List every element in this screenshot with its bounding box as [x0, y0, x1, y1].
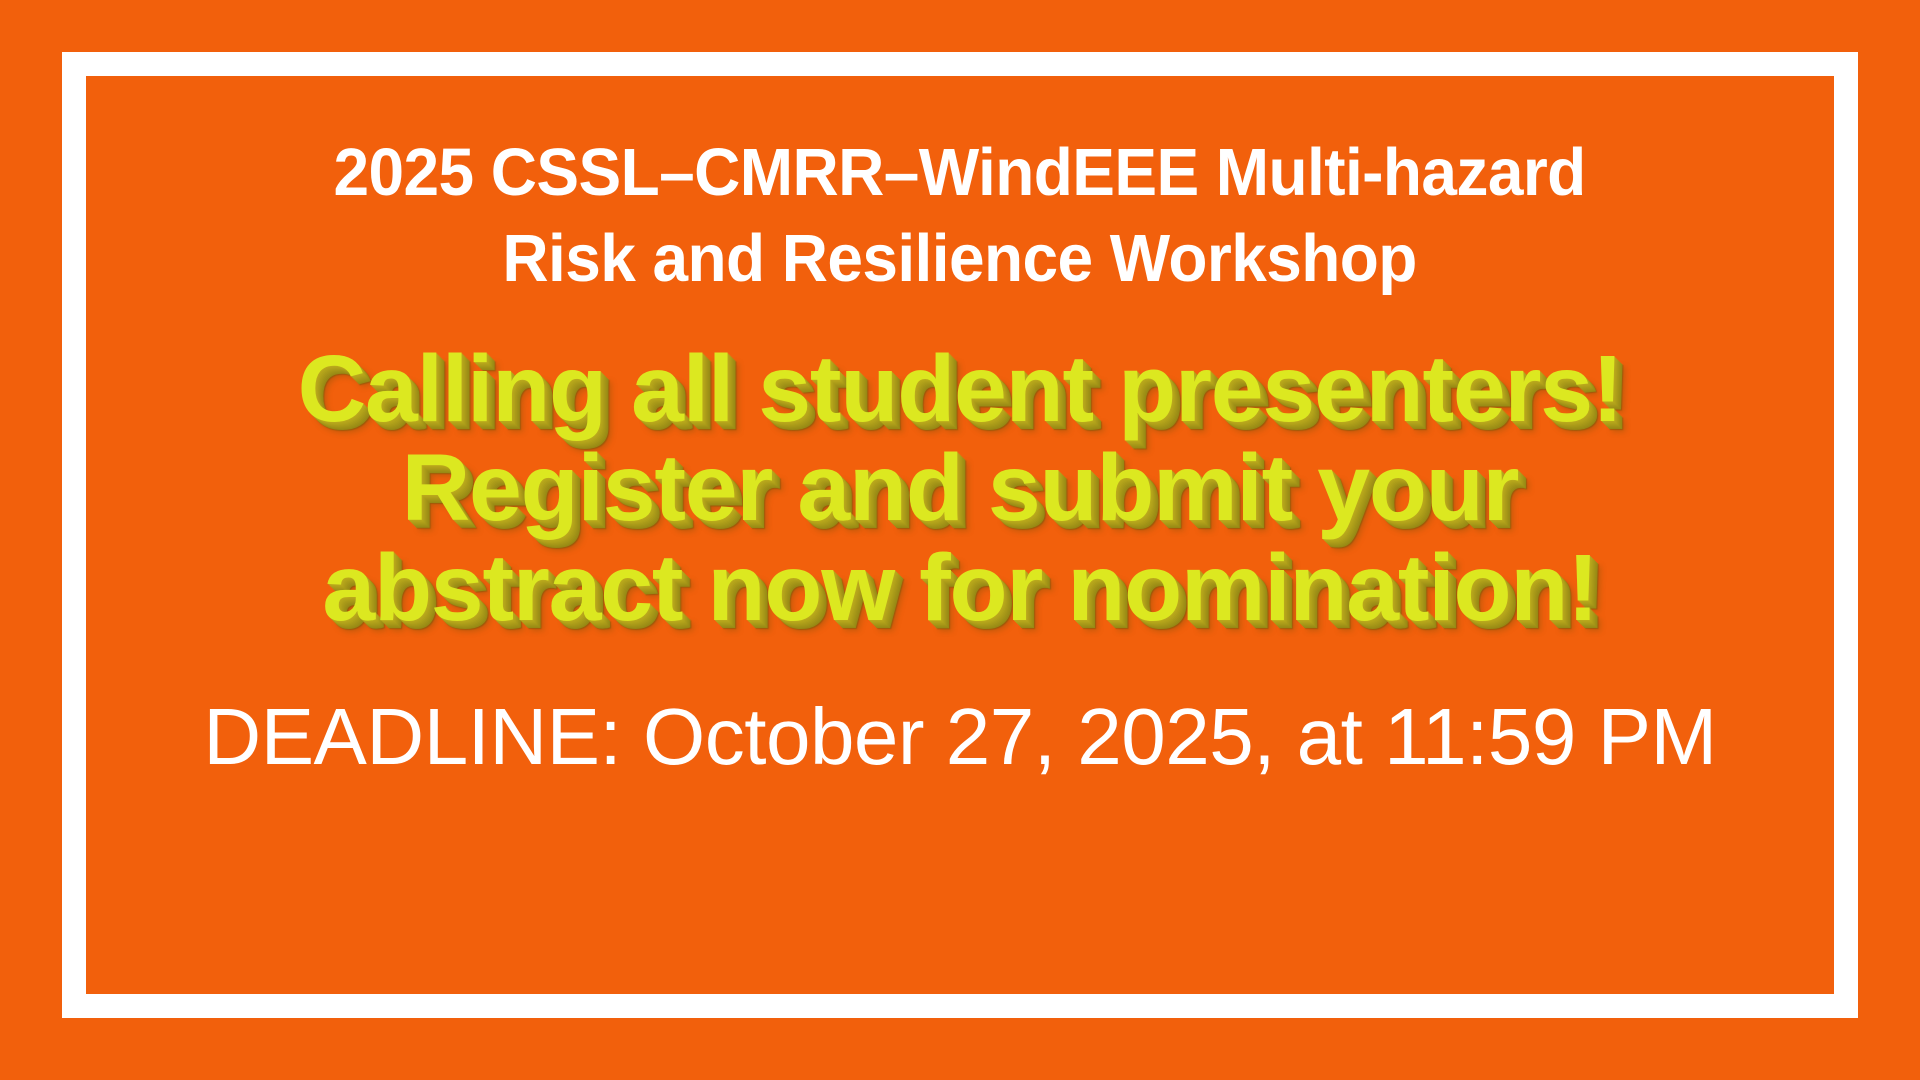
workshop-title-line-2: Risk and Resilience Workshop	[334, 216, 1586, 302]
deadline-text: DEADLINE: October 27, 2025, at 11:59 PM	[203, 693, 1716, 781]
workshop-title: 2025 CSSL–CMRR–WindEEE Multi-hazard Risk…	[334, 130, 1586, 302]
headline-line-1: Calling all student presenters!	[298, 340, 1623, 440]
call-for-presenters-headline: Calling all student presenters! Register…	[298, 340, 1623, 639]
headline-line-3: abstract now for nomination!	[298, 539, 1623, 639]
workshop-title-line-1: 2025 CSSL–CMRR–WindEEE Multi-hazard	[334, 130, 1586, 216]
poster-canvas: 2025 CSSL–CMRR–WindEEE Multi-hazard Risk…	[0, 0, 1920, 1080]
headline-line-2: Register and submit your	[298, 439, 1623, 539]
poster-content: 2025 CSSL–CMRR–WindEEE Multi-hazard Risk…	[86, 76, 1834, 994]
